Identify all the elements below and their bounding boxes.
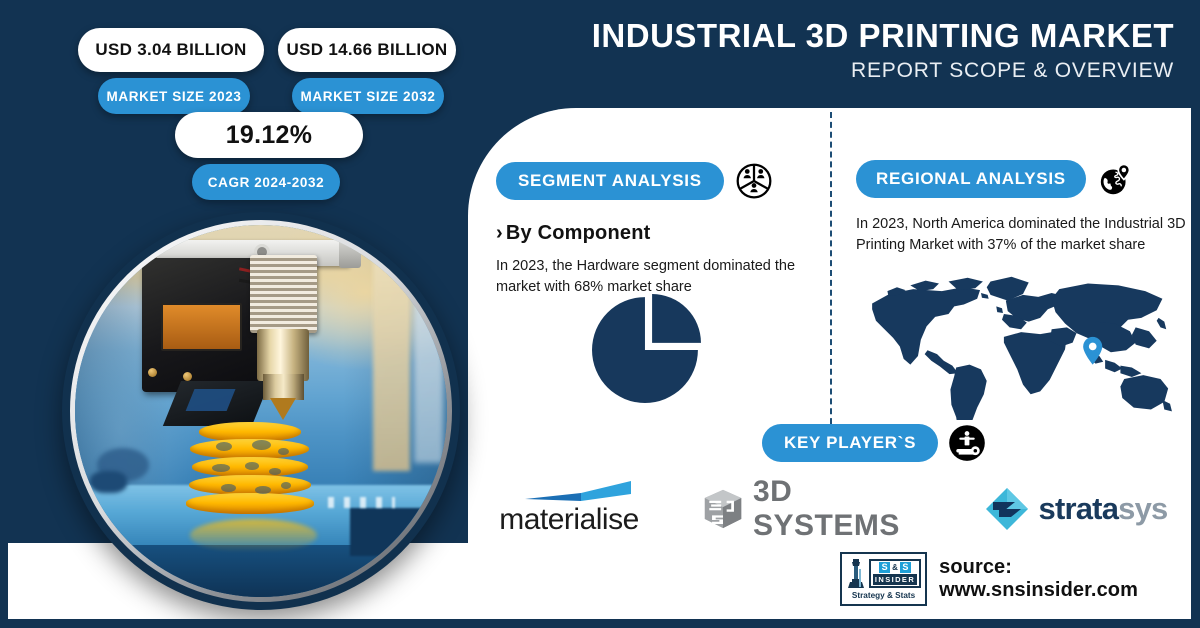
segment-subheading-label: By Component <box>506 222 651 244</box>
materialise-mark-icon <box>523 481 633 505</box>
segment-subheading: ›By Component <box>496 222 806 245</box>
key-players-header: KEY PLAYER`S <box>762 424 986 462</box>
page-subtitle: REPORT SCOPE & OVERVIEW <box>534 59 1174 83</box>
regional-body-text: In 2023, North America dominated the Ind… <box>856 214 1186 256</box>
sns-ampersand: & <box>892 563 898 572</box>
logo-3d-systems: 3D SYSTEMS <box>701 476 927 542</box>
stat-value: USD 14.66 BILLION <box>278 28 456 72</box>
stat-cagr: 19.12% CAGR 2024-2032 <box>175 112 363 200</box>
segment-body-text: In 2023, the Hardware segment dominated … <box>496 256 806 297</box>
stat-label: MARKET SIZE 2023 <box>98 78 250 114</box>
stratasys-wordmark-bold: strata <box>1039 491 1119 526</box>
stratasys-diamond-icon <box>983 485 1031 533</box>
3d-systems-cube-icon <box>701 488 745 530</box>
pie-slice-minor <box>652 294 701 343</box>
stratasys-wordmark-light: sys <box>1118 491 1167 526</box>
stat-label: MARKET SIZE 2032 <box>292 78 444 114</box>
source-url-text: source: www.snsinsider.com <box>939 556 1200 602</box>
frame-bottom-border <box>0 619 1200 628</box>
regional-analysis-section: REGIONAL ANALYSIS In 2023, North America… <box>856 160 1186 256</box>
frame-left-border <box>0 0 8 628</box>
segment-people-circle-icon <box>736 163 772 199</box>
sns-s-second: S <box>900 562 911 573</box>
key-players-chip: KEY PLAYER`S <box>762 424 938 462</box>
person-key-circle-icon <box>948 424 986 462</box>
stat-market-size-2032: USD 14.66 BILLION MARKET SIZE 2032 <box>278 28 456 114</box>
world-map <box>858 272 1188 420</box>
stat-value: 19.12% <box>175 112 363 158</box>
stratasys-wordmark: stratasys <box>1039 491 1168 527</box>
regional-analysis-chip: REGIONAL ANALYSIS <box>856 160 1086 198</box>
component-pie-chart <box>584 292 710 404</box>
chevron-right-icon: › <box>496 222 503 244</box>
sns-insider-label: INSIDER <box>873 574 917 585</box>
page-title: INDUSTRIAL 3D PRINTING MARKET <box>534 18 1174 54</box>
stat-value: USD 3.04 BILLION <box>78 28 264 72</box>
header: INDUSTRIAL 3D PRINTING MARKET REPORT SCO… <box>534 18 1174 83</box>
photo-ring <box>70 220 452 602</box>
sns-badge: S & S INSIDER <box>869 559 921 588</box>
lighthouse-icon <box>846 557 866 589</box>
hero-photo <box>62 212 460 610</box>
3d-systems-wordmark: 3D SYSTEMS <box>753 475 927 543</box>
infographic-canvas: INDUSTRIAL 3D PRINTING MARKET REPORT SCO… <box>0 0 1200 628</box>
section-divider <box>830 112 832 434</box>
stat-market-size-2023: USD 3.04 BILLION MARKET SIZE 2023 <box>78 28 264 114</box>
segment-analysis-chip: SEGMENT ANALYSIS <box>496 162 724 200</box>
key-players-logos: materialise 3D SYSTEMS <box>480 476 1180 542</box>
photo-3d-printer <box>75 225 447 597</box>
frame-top-border <box>0 0 1200 6</box>
materialise-wordmark: materialise <box>499 503 639 537</box>
logo-materialise: materialise <box>480 476 658 542</box>
globe-pin-icon <box>1098 161 1134 197</box>
sns-s-first: S <box>879 562 890 573</box>
map-landmasses <box>872 277 1172 420</box>
sns-insider-logo: S & S INSIDER Strategy & Stats <box>840 552 927 606</box>
segment-analysis-section: SEGMENT ANALYSIS <box>496 162 806 297</box>
stat-label: CAGR 2024-2032 <box>192 164 340 200</box>
logo-stratasys: stratasys <box>970 476 1180 542</box>
source-row: S & S INSIDER Strategy & Stats source: w… <box>840 552 1200 606</box>
frame-right-border <box>1191 0 1200 628</box>
sns-tagline: Strategy & Stats <box>852 591 915 600</box>
